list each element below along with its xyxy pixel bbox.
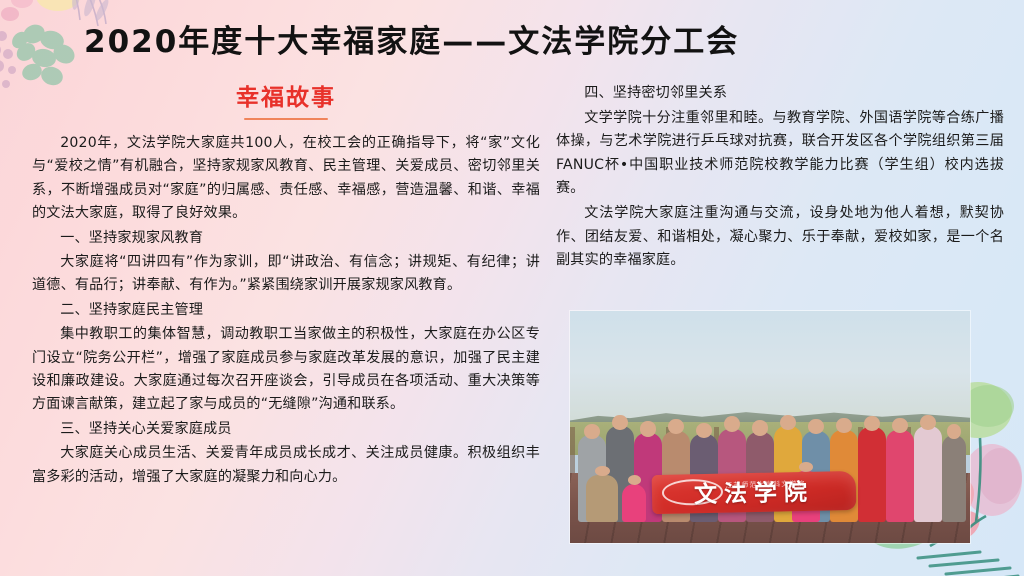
subheading-two: 二、坚持家庭民主管理 xyxy=(32,299,540,322)
photo-child xyxy=(622,484,646,522)
paragraph-four-body: 文学学院十分注重邻里和睦。与教育学院、外国语学院等合练广播体操，与艺术学院进行乒… xyxy=(556,107,1004,201)
section-heading-happy-story: 幸福故事 xyxy=(32,78,540,112)
photo-person xyxy=(858,427,886,522)
photo-sky xyxy=(570,311,970,420)
subheading-four: 四、坚持密切邻里关系 xyxy=(556,82,1004,106)
subheading-three: 三、坚持关心关爱家庭成员 xyxy=(32,418,540,441)
right-column: 四、坚持密切邻里关系 文学学院十分注重邻里和睦。与教育学院、外国语学院等合练广播… xyxy=(556,82,1004,274)
section-heading-rule xyxy=(244,118,328,120)
photo-person xyxy=(914,426,942,522)
banner-title: 文法学院 xyxy=(652,472,857,510)
paragraph-three-body: 大家庭关心成员生活、关爱青年成员成长成才、关注成员健康。积极组织丰富多彩的活动，… xyxy=(32,442,540,489)
photo-red-banner: 江苏师范大学科文学院 文法学院 xyxy=(652,470,857,513)
left-column: 幸福故事 2020年，文法学院大家庭共100人，在校工会的正确指导下，将“家”文… xyxy=(32,78,540,490)
subheading-one: 一、坚持家规家风教育 xyxy=(32,227,540,250)
paragraph-closing: 文法学院大家庭注重沟通与交流，设身处地为他人着想，默契协作、团结友爱、和谐相处，… xyxy=(556,202,1004,273)
paragraph-one-body: 大家庭将“四讲四有”作为家训，即“讲政治、有信念；讲规矩、有纪律；讲道德、有品行… xyxy=(32,251,540,298)
photo-crowd: 江苏师范大学科文学院 文法学院 xyxy=(570,411,970,522)
page-title: 2020年度十大幸福家庭——文法学院分工会 xyxy=(84,16,739,61)
paragraph-intro: 2020年，文法学院大家庭共100人，在校工会的正确指导下，将“家”文化与“爱校… xyxy=(32,132,540,226)
photo-person-front xyxy=(586,475,618,522)
photo-person xyxy=(942,435,966,522)
group-photo: 江苏师范大学科文学院 文法学院 xyxy=(570,311,970,543)
paragraph-two-body: 集中教职工的集体智慧，调动教职工当家做主的积极性，大家庭在办公区专门设立“院务公… xyxy=(32,323,540,417)
photo-person xyxy=(886,430,914,522)
slide-canvas: 2020年度十大幸福家庭——文法学院分工会 幸福故事 2020年，文法学院大家庭… xyxy=(0,0,1024,576)
